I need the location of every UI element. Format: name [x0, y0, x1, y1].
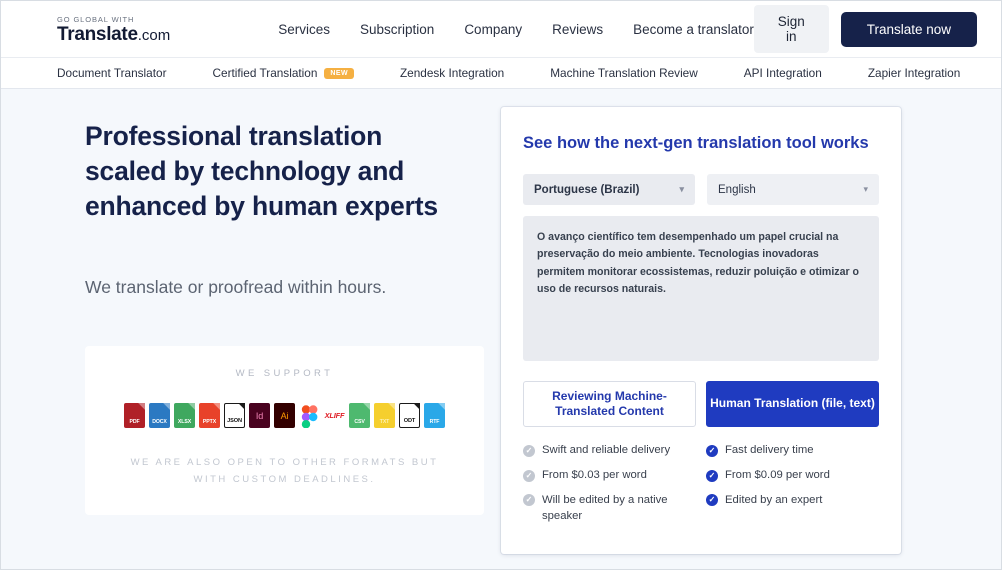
logo-name: Translate [57, 24, 138, 45]
footnote-line-2: WITH CUSTOM DEADLINES. [193, 474, 375, 485]
logo-suffix: .com [138, 27, 171, 44]
format-icon-row: PDF DOCX XLSX PPTX [105, 403, 464, 428]
feature-label: Fast delivery time [725, 443, 814, 459]
check-icon: ✓ [706, 445, 718, 457]
xliff-icon: XLIFF [324, 403, 345, 428]
demo-panel-wrapper: See how the next-gen translation tool wo… [501, 89, 1001, 569]
hero-section: Professional translation scaled by techn… [1, 89, 501, 569]
new-badge: NEW [324, 68, 354, 79]
human-translation-button[interactable]: Human Translation (file, text) [706, 381, 879, 427]
feature-label: Swift and reliable delivery [542, 443, 670, 459]
page-content: Professional translation scaled by techn… [1, 89, 1001, 569]
nav-item-services[interactable]: Services [278, 22, 330, 37]
check-icon: ✓ [706, 494, 718, 506]
list-item: ✓ Swift and reliable delivery [523, 443, 696, 459]
supported-formats-card: WE SUPPORT PDF DOCX XLSX [85, 346, 484, 515]
subnav-label: Document Translator [57, 66, 167, 80]
site-header: GO GLOBAL WITH Translate.com Services Su… [1, 1, 1001, 57]
feature-label: Edited by an expert [725, 493, 822, 509]
nav-item-company[interactable]: Company [464, 22, 522, 37]
site-logo[interactable]: GO GLOBAL WITH Translate.com [57, 15, 200, 44]
feature-column-human: ✓ Fast delivery time ✓ From $0.09 per wo… [706, 443, 879, 533]
source-language-value: Portuguese (Brazil) [534, 184, 639, 196]
target-language-select[interactable]: English ▾ [707, 174, 879, 205]
supported-formats-footnote: WE ARE ALSO OPEN TO OTHER FORMATS BUT WI… [105, 454, 464, 489]
indesign-icon: Id [249, 403, 270, 428]
list-item: ✓ Will be edited by a native speaker [523, 493, 696, 525]
check-icon: ✓ [706, 470, 718, 482]
chevron-down-icon: ▾ [863, 184, 868, 195]
panel-title: See how the next-gen translation tool wo… [523, 132, 879, 154]
header-actions: Sign in Translate now [754, 5, 977, 53]
feature-label: From $0.09 per word [725, 468, 830, 484]
source-text-area[interactable]: O avanço científico tem desempenhado um … [523, 216, 879, 361]
footnote-line-1: WE ARE ALSO OPEN TO OTHER FORMATS BUT [131, 457, 439, 468]
supported-formats-title: WE SUPPORT [105, 368, 464, 379]
feature-comparison: ✓ Swift and reliable delivery ✓ From $0.… [523, 443, 879, 533]
service-option-buttons: Reviewing Machine-Translated Content Hum… [523, 381, 879, 427]
translate-now-button[interactable]: Translate now [841, 12, 977, 47]
page-title: Professional translation scaled by techn… [85, 119, 501, 224]
subnav-label: API Integration [744, 66, 822, 80]
json-icon: JSON [224, 403, 245, 428]
subnav-label: Machine Translation Review [550, 66, 698, 80]
headline-line-1: Professional translation [85, 121, 382, 151]
subnav-label: Zapier Integration [868, 66, 960, 80]
subnav-label: Certified Translation [213, 66, 318, 80]
subnav-item-api-integration[interactable]: API Integration [744, 66, 822, 80]
odt-icon: ODT [399, 403, 420, 428]
sign-in-button[interactable]: Sign in [754, 5, 829, 53]
headline-line-2: scaled by technology and [85, 156, 404, 186]
check-icon: ✓ [523, 445, 535, 457]
target-language-value: English [718, 184, 756, 196]
subnav-item-certified-translation[interactable]: Certified Translation NEW [213, 66, 354, 80]
feature-column-machine: ✓ Swift and reliable delivery ✓ From $0.… [523, 443, 696, 533]
translation-demo-panel: See how the next-gen translation tool wo… [501, 107, 901, 554]
feature-label: Will be edited by a native speaker [542, 493, 696, 525]
list-item: ✓ Edited by an expert [706, 493, 879, 509]
illustrator-icon: Ai [274, 403, 295, 428]
xlsx-icon: XLSX [174, 403, 195, 428]
nav-item-subscription[interactable]: Subscription [360, 22, 434, 37]
subnav-item-zendesk-integration[interactable]: Zendesk Integration [400, 66, 504, 80]
secondary-navigation: Document Translator Certified Translatio… [1, 57, 1001, 89]
txt-icon: TXT [374, 403, 395, 428]
subnav-item-document-translator[interactable]: Document Translator [57, 66, 167, 80]
pdf-icon: PDF [124, 403, 145, 428]
csv-icon: CSV [349, 403, 370, 428]
list-item: ✓ Fast delivery time [706, 443, 879, 459]
nav-item-become-a-translator[interactable]: Become a translator [633, 22, 754, 37]
hero-subheadline: We translate or proofread within hours. [85, 277, 501, 298]
pptx-icon: PPTX [199, 403, 220, 428]
language-selectors: Portuguese (Brazil) ▾ English ▾ [523, 174, 879, 205]
subnav-item-zapier-integration[interactable]: Zapier Integration [868, 66, 960, 80]
rtf-icon: RTF [424, 403, 445, 428]
list-item: ✓ From $0.03 per word [523, 468, 696, 484]
list-item: ✓ From $0.09 per word [706, 468, 879, 484]
figma-icon [299, 403, 320, 428]
reviewing-machine-translated-content-button[interactable]: Reviewing Machine-Translated Content [523, 381, 696, 427]
page-root: GO GLOBAL WITH Translate.com Services Su… [0, 0, 1002, 570]
main-navigation: Services Subscription Company Reviews Be… [278, 22, 754, 37]
check-icon: ✓ [523, 470, 535, 482]
subnav-label: Zendesk Integration [400, 66, 504, 80]
feature-label: From $0.03 per word [542, 468, 647, 484]
check-icon: ✓ [523, 494, 535, 506]
subnav-item-machine-translation-review[interactable]: Machine Translation Review [550, 66, 698, 80]
nav-item-reviews[interactable]: Reviews [552, 22, 603, 37]
source-language-select[interactable]: Portuguese (Brazil) ▾ [523, 174, 695, 205]
logo-wordmark: Translate.com [57, 25, 200, 44]
docx-icon: DOCX [149, 403, 170, 428]
logo-tagline: GO GLOBAL WITH [57, 15, 200, 24]
headline-line-3: enhanced by human experts [85, 191, 438, 221]
chevron-down-icon: ▾ [679, 184, 684, 195]
